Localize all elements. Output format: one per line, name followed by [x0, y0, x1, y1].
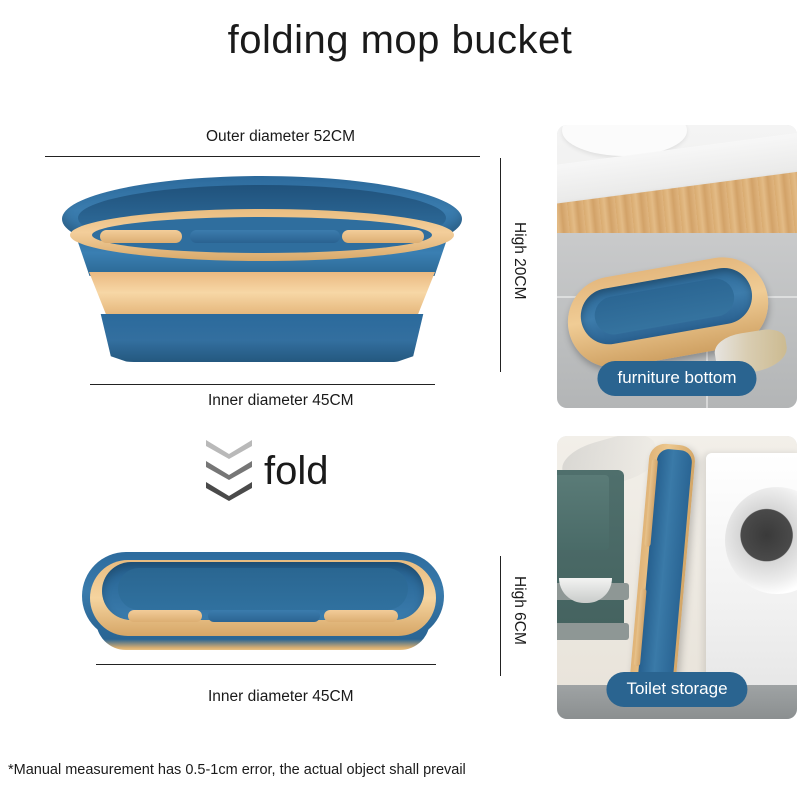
bucket-base: [94, 314, 430, 362]
folded-inner-diameter-rule: [96, 664, 436, 665]
measurement-disclaimer: *Manual measurement has 0.5-1cm error, t…: [8, 762, 466, 778]
folded-height-rule: [500, 556, 501, 676]
chevron-down-icon-light: [206, 440, 252, 459]
folded-handle-left: [128, 610, 202, 622]
folded-bucket-illustration: [82, 548, 444, 658]
open-inner-diameter-label: Inner diameter 45CM: [208, 392, 354, 410]
open-height-label: High 20CM: [510, 222, 528, 300]
bucket-front-lip: [190, 230, 340, 243]
bucket-handle-right: [342, 230, 424, 243]
folded-inner-lip: [118, 568, 408, 610]
open-outer-diameter-rule: [45, 156, 480, 157]
open-outer-diameter-label: Outer diameter 52CM: [206, 128, 355, 146]
chevron-down-icon-dark: [206, 482, 252, 501]
badge-toilet-storage: Toilet storage: [606, 672, 747, 707]
folded-height-label: High 6CM: [510, 576, 528, 645]
bucket-handle-left: [100, 230, 182, 243]
open-bucket-illustration: [62, 176, 462, 366]
chevron-stack: [206, 440, 252, 501]
shelf-lower: [557, 623, 629, 640]
photo-furniture-bottom[interactable]: furniture bottom: [557, 125, 797, 408]
page-title: folding mop bucket: [0, 18, 800, 63]
folded-inner-diameter-label: Inner diameter 45CM: [208, 688, 354, 706]
open-height-rule: [500, 158, 501, 372]
green-cabinet: [557, 470, 624, 640]
photo-toilet-storage[interactable]: Toilet storage: [557, 436, 797, 719]
open-inner-diameter-rule: [90, 384, 435, 385]
bucket-gold-bellows: [78, 272, 446, 318]
chevron-down-icon-medium: [206, 461, 252, 480]
folded-front-lip: [208, 610, 320, 622]
badge-furniture-bottom: furniture bottom: [597, 361, 756, 396]
washing-machine: [706, 453, 797, 696]
fold-label: fold: [264, 451, 329, 491]
fold-indicator: fold: [206, 440, 329, 501]
cabinet-door: [557, 475, 609, 550]
washer-door: [725, 487, 797, 594]
folded-handle-right: [324, 610, 398, 622]
